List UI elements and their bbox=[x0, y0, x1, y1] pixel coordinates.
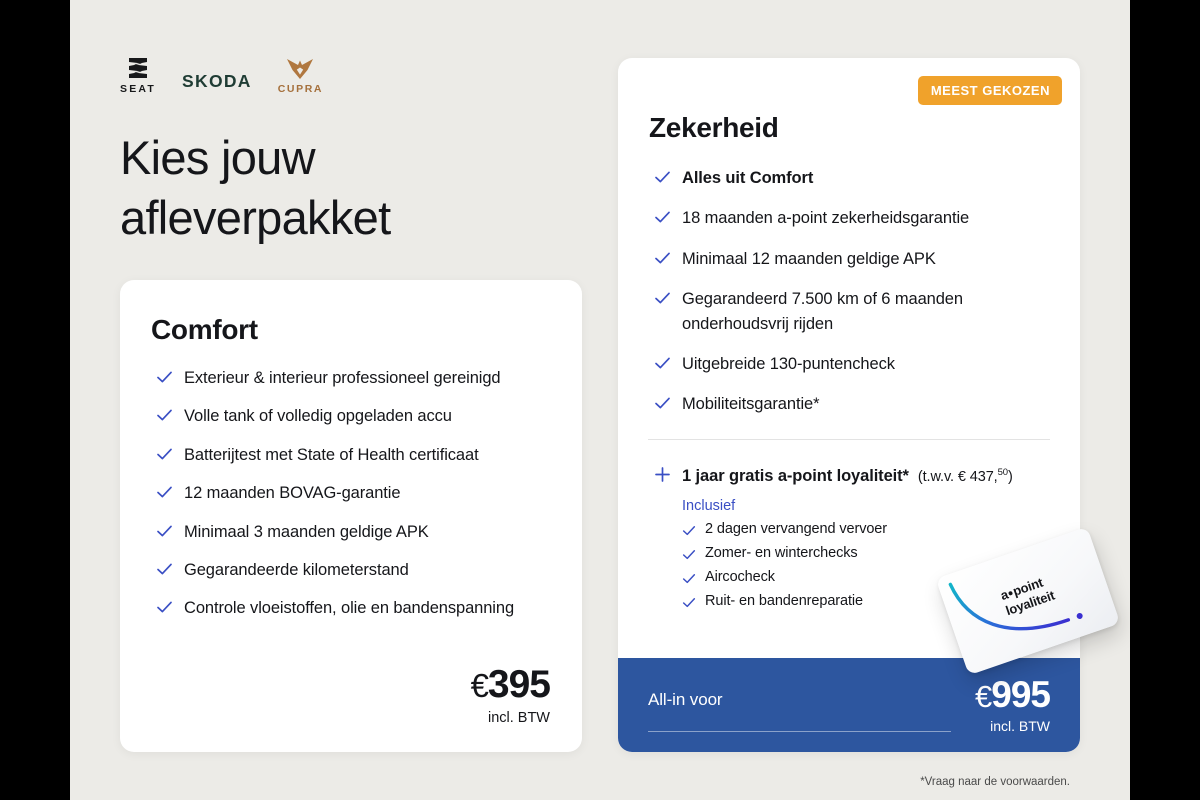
check-icon bbox=[156, 561, 173, 578]
list-item: Gegarandeerde kilometerstand bbox=[156, 558, 548, 582]
check-icon bbox=[156, 369, 173, 386]
feature-label: Exterieur & interieur professioneel gere… bbox=[184, 366, 501, 390]
check-icon bbox=[682, 596, 696, 610]
allin-rule bbox=[648, 731, 951, 732]
check-icon bbox=[654, 250, 671, 267]
check-icon bbox=[682, 524, 696, 538]
list-item: Alles uit Comfort bbox=[654, 166, 1050, 190]
zekerheid-feature-list: Alles uit Comfort 18 maanden a-point zek… bbox=[654, 166, 1050, 417]
zekerheid-card-title: Zekerheid bbox=[649, 112, 1050, 144]
comfort-price-block: €395 incl. BTW bbox=[471, 665, 550, 726]
footnote: *Vraag naar de voorwaarden. bbox=[920, 776, 1070, 788]
feature-label: Gegarandeerde kilometerstand bbox=[184, 558, 409, 582]
cupra-logo: CUPRA bbox=[278, 58, 323, 95]
list-item: Mobiliteitsgarantie* bbox=[654, 392, 1050, 416]
list-item: 18 maanden a-point zekerheidsgarantie bbox=[654, 206, 1050, 230]
feature-label: Mobiliteitsgarantie* bbox=[682, 392, 819, 416]
zekerheid-price-footer: All-in voor €995 incl. BTW bbox=[618, 658, 1080, 752]
list-item: Gegarandeerd 7.500 km of 6 maanden onder… bbox=[654, 287, 1050, 336]
allin-label: All-in voor bbox=[648, 690, 722, 720]
list-item: Minimaal 3 maanden geldige APK bbox=[156, 520, 548, 544]
check-icon bbox=[654, 209, 671, 226]
page-title: Kies jouw afleverpakket bbox=[120, 128, 540, 247]
feature-label: Uitgebreide 130-puntencheck bbox=[682, 352, 895, 376]
zekerheid-price-value: 995 bbox=[991, 674, 1050, 715]
check-icon bbox=[156, 446, 173, 463]
feature-label: Minimaal 12 maanden geldige APK bbox=[682, 247, 936, 271]
package-card-comfort[interactable]: Comfort Exterieur & interieur profession… bbox=[120, 280, 582, 752]
loyalty-value-suffix: ) bbox=[1008, 469, 1013, 485]
loyalty-value-cents: 50 bbox=[998, 467, 1008, 478]
feature-label: Volle tank of volledig opgeladen accu bbox=[184, 404, 452, 428]
feature-label: 18 maanden a-point zekerheidsgarantie bbox=[682, 206, 969, 230]
section-divider bbox=[648, 439, 1050, 440]
loyalty-title: 1 jaar gratis a-point loyaliteit* bbox=[682, 467, 909, 486]
check-icon bbox=[682, 548, 696, 562]
list-item: Volle tank of volledig opgeladen accu bbox=[156, 404, 548, 428]
loyalty-value-note: (t.w.v. € 437,50) bbox=[918, 467, 1013, 485]
feature-label: Gegarandeerd 7.500 km of 6 maanden onder… bbox=[682, 287, 1050, 336]
check-icon bbox=[156, 599, 173, 616]
feature-label: Minimaal 3 maanden geldige APK bbox=[184, 520, 429, 544]
zekerheid-price-vat: incl. BTW bbox=[975, 718, 1050, 734]
comfort-price-value: 395 bbox=[488, 663, 550, 706]
check-icon bbox=[654, 355, 671, 372]
list-item: Controle vloeistoffen, olie en bandenspa… bbox=[156, 596, 548, 620]
skoda-logo: SKODA bbox=[182, 71, 252, 95]
list-item: Exterieur & interieur professioneel gere… bbox=[156, 366, 548, 390]
comfort-price-amount: €395 bbox=[471, 665, 550, 704]
status-badge: MEEST GEKOZEN bbox=[918, 76, 1062, 105]
list-item: Minimaal 12 maanden geldige APK bbox=[654, 247, 1050, 271]
seat-wordmark: SEAT bbox=[120, 83, 156, 95]
package-card-zekerheid[interactable]: MEEST GEKOZEN Zekerheid Alles uit Comfor… bbox=[618, 58, 1080, 752]
check-icon bbox=[654, 395, 671, 412]
loyalty-value-prefix: (t.w.v. € 437, bbox=[918, 469, 998, 485]
list-item: Batterijtest met State of Health certifi… bbox=[156, 443, 548, 467]
inclusief-item-label: 2 dagen vervangend vervoer bbox=[705, 521, 887, 537]
check-icon bbox=[156, 523, 173, 540]
loyalty-headline-row: 1 jaar gratis a-point loyaliteit* (t.w.v… bbox=[654, 464, 1050, 486]
feature-label: Controle vloeistoffen, olie en bandenspa… bbox=[184, 596, 514, 620]
comfort-card-title: Comfort bbox=[151, 314, 548, 346]
plus-icon bbox=[654, 466, 671, 483]
skoda-wordmark-icon: SKODA bbox=[182, 71, 252, 92]
euro-symbol: € bbox=[975, 679, 991, 714]
feature-label: Alles uit Comfort bbox=[682, 166, 813, 190]
inclusief-item-label: Zomer- en winterchecks bbox=[705, 545, 858, 561]
feature-label: 12 maanden BOVAG-garantie bbox=[184, 481, 400, 505]
feature-label: Batterijtest met State of Health certifi… bbox=[184, 443, 479, 467]
check-icon bbox=[654, 290, 671, 307]
screenshot-stage: SEAT SKODA CUPRA Kies jouw afleverpakket bbox=[0, 0, 1200, 800]
zekerheid-price-amount: €995 bbox=[975, 676, 1050, 713]
zekerheid-price-block: €995 incl. BTW bbox=[975, 676, 1050, 734]
inclusief-label: Inclusief bbox=[682, 498, 1050, 514]
cupra-wordmark: CUPRA bbox=[278, 83, 323, 95]
check-icon bbox=[682, 572, 696, 586]
brand-logo-row: SEAT SKODA CUPRA bbox=[120, 55, 323, 95]
inclusief-item-label: Ruit- en bandenreparatie bbox=[705, 593, 863, 609]
list-item: Uitgebreide 130-puntencheck bbox=[654, 352, 1050, 376]
list-item: 12 maanden BOVAG-garantie bbox=[156, 481, 548, 505]
page-canvas: SEAT SKODA CUPRA Kies jouw afleverpakket bbox=[70, 0, 1130, 800]
check-icon bbox=[654, 169, 671, 186]
comfort-feature-list: Exterieur & interieur professioneel gere… bbox=[156, 366, 548, 621]
allin-wrap: All-in voor bbox=[648, 690, 975, 720]
check-icon bbox=[156, 484, 173, 501]
seat-logo: SEAT bbox=[120, 55, 156, 95]
inclusief-item-label: Aircocheck bbox=[705, 569, 775, 585]
comfort-price-vat: incl. BTW bbox=[471, 710, 550, 726]
check-icon bbox=[156, 407, 173, 424]
seat-logo-icon bbox=[125, 55, 151, 81]
list-item: 2 dagen vervangend vervoer bbox=[682, 521, 1050, 538]
euro-symbol: € bbox=[471, 667, 488, 704]
cupra-logo-icon bbox=[285, 58, 315, 80]
